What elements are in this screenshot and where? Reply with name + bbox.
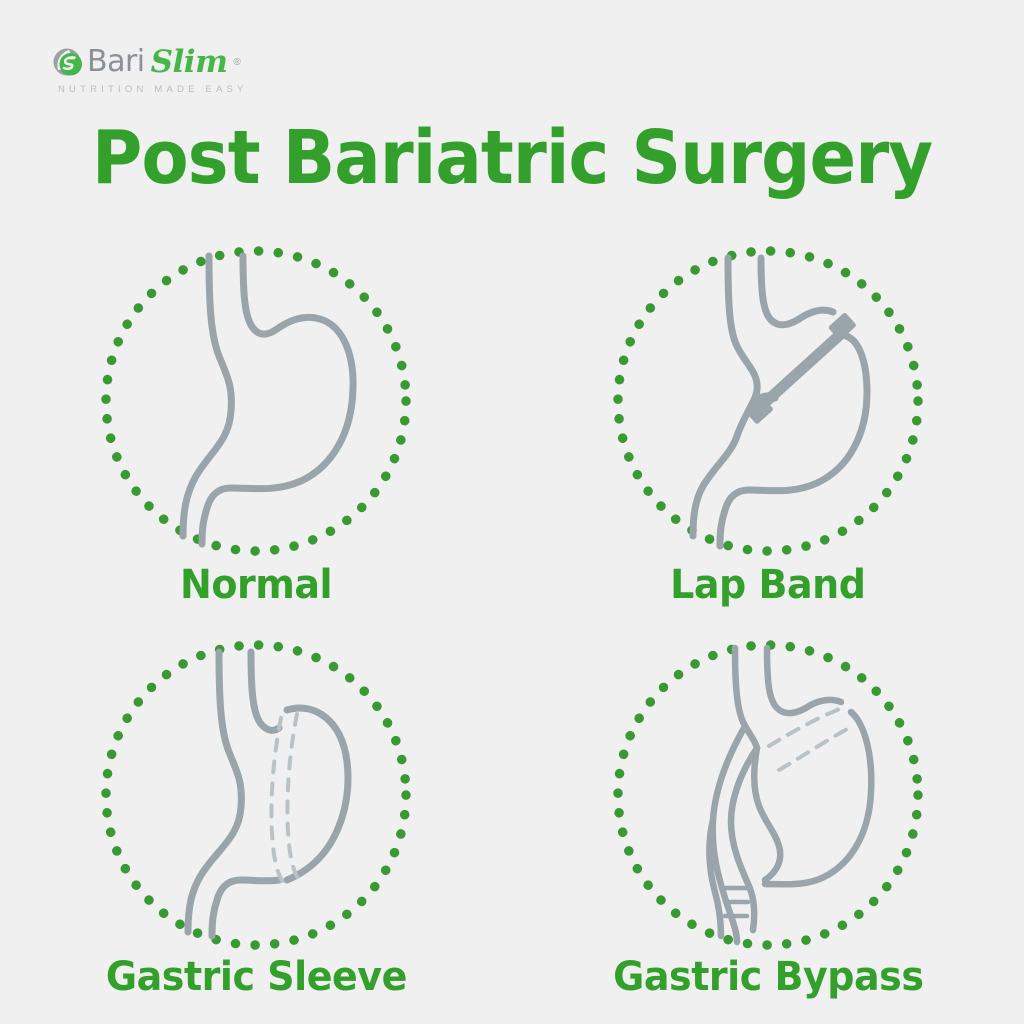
dotted-circle-icon [106,645,406,945]
gastric-sleeve-stomach-figure [91,630,421,960]
gastric-bypass-stomach-icon [709,648,871,942]
caption-gastric-bypass: Gastric Bypass [613,954,923,1000]
diagram-lap-band: Lap Band [512,236,1024,608]
lap-band-stomach-icon [693,258,867,546]
infographic-page: Bari Slim ® NUTRITION MADE EASY Post Bar… [0,0,1024,1024]
brand-tagline: NUTRITION MADE EASY [58,84,312,95]
caption-lap-band: Lap Band [670,562,865,608]
gastric-sleeve-stomach-icon [188,652,348,936]
bypass-anastomosis-dashed-lines [769,706,849,770]
gastric-bypass-stomach-figure [603,630,933,960]
caption-gastric-sleeve: Gastric Sleeve [106,954,407,1000]
sleeve-resection-dashed-lines [271,714,299,882]
diagram-row-top: Normal [0,236,1024,608]
dotted-circle-icon [106,251,406,551]
diagram-grid: Normal [0,236,1024,1000]
brand-name-bari: Bari [87,47,145,77]
brand-name-slim: Slim [151,47,228,77]
diagram-gastric-sleeve: Gastric Sleeve [0,608,512,1000]
caption-normal: Normal [180,562,332,608]
normal-stomach-icon [183,256,353,544]
brand-logo: Bari Slim ® NUTRITION MADE EASY [52,44,312,104]
page-title: Post Bariatric Surgery [36,118,988,198]
registered-mark: ® [233,57,240,68]
normal-stomach-figure [91,236,421,566]
diagram-normal: Normal [0,236,512,608]
diagram-row-bottom: Gastric Sleeve [0,608,1024,1000]
diagram-gastric-bypass: Gastric Bypass [512,608,1024,1000]
band-device-icon [745,313,856,424]
lap-band-stomach-figure [603,236,933,566]
leaf-circle-icon [52,47,82,77]
brand-wordmark-row: Bari Slim ® [52,44,312,80]
